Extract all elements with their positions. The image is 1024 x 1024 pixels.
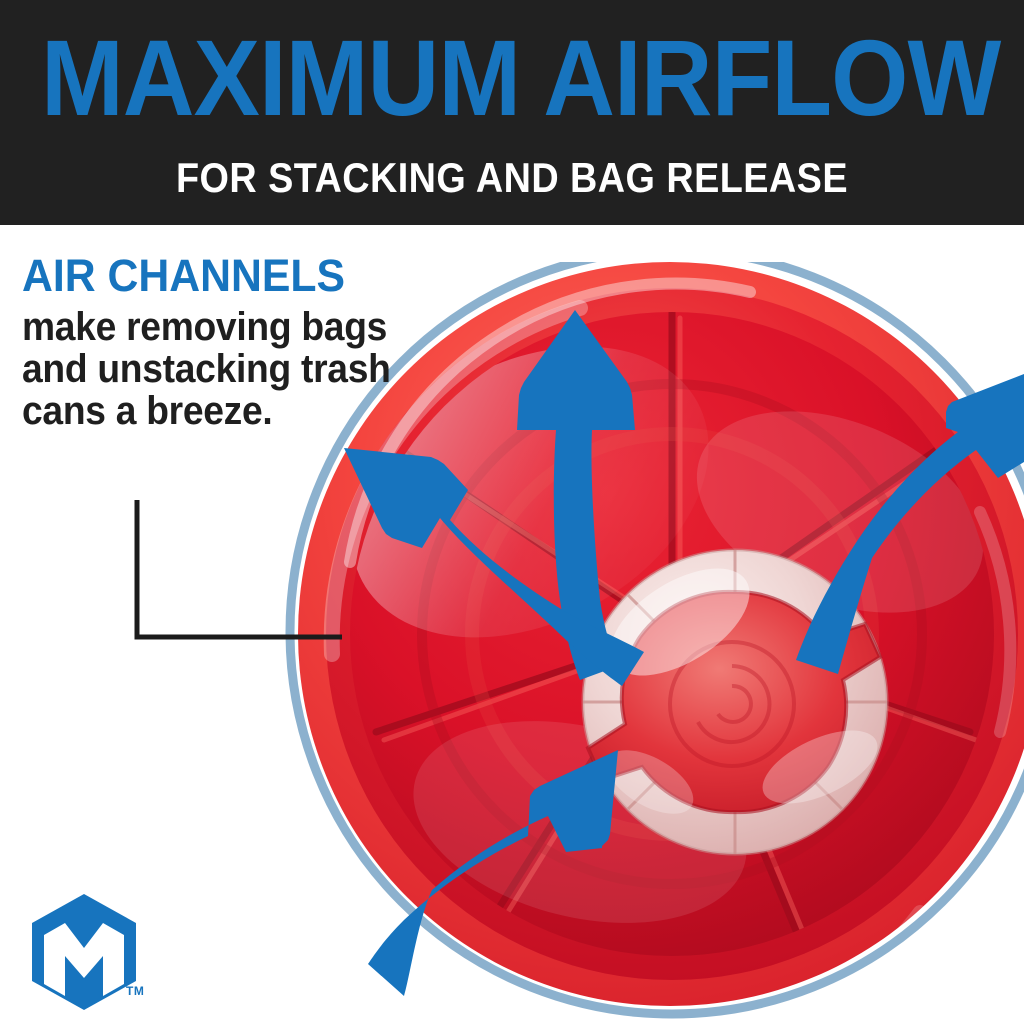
center-hub: [583, 547, 888, 854]
callout-block: AIR CHANNELS make removing bags and unst…: [22, 252, 422, 432]
callout-body-line-2: and unstacking trash: [22, 348, 394, 390]
hexagon-m-icon: [32, 894, 136, 1010]
infographic-canvas: MAXIMUM AIRFLOW FOR STACKING AND BAG REL…: [0, 0, 1024, 1024]
trademark-symbol: TM: [126, 984, 144, 998]
callout-heading: AIR CHANNELS: [22, 252, 402, 300]
callout-leader-line: [134, 498, 344, 648]
page-title: MAXIMUM AIRFLOW: [41, 24, 983, 132]
callout-body: make removing bags and unstacking trash …: [22, 306, 394, 432]
callout-body-line-1: make removing bags: [22, 306, 394, 348]
callout-body-line-3: cans a breeze.: [22, 390, 394, 432]
header-band: MAXIMUM AIRFLOW FOR STACKING AND BAG REL…: [0, 0, 1024, 225]
page-subtitle: FOR STACKING AND BAG RELEASE: [51, 155, 973, 201]
